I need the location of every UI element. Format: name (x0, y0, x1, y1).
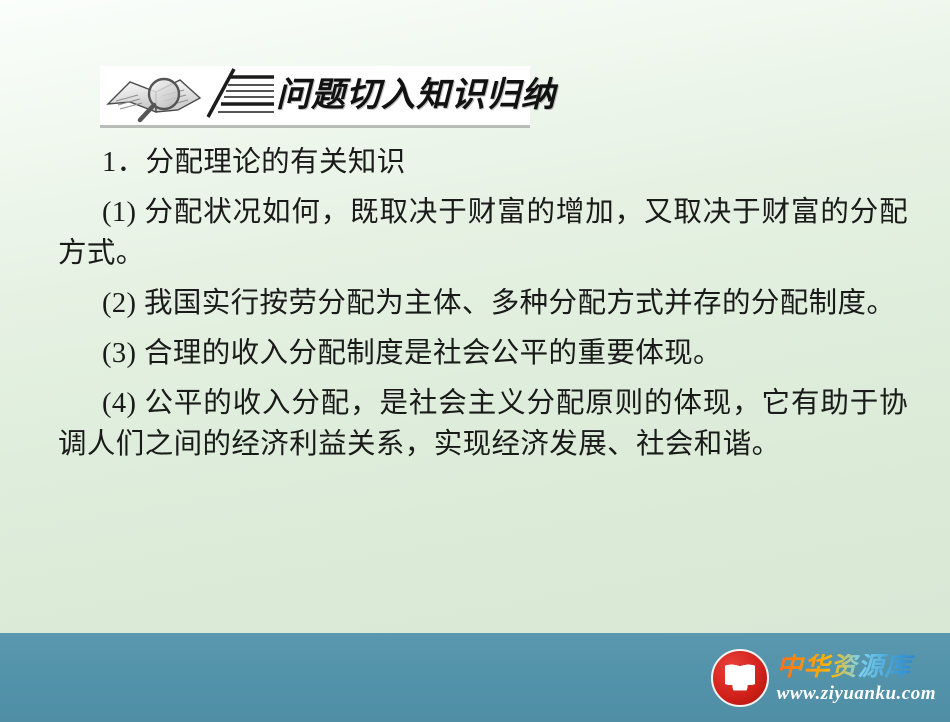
content-point-4: (4) 公平的收入分配，是社会主义分配原则的体现，它有助于协调人们之间的经济利益… (58, 383, 908, 465)
section-title-line: 1．分配理论的有关知识 (58, 142, 908, 183)
content-body: 1．分配理论的有关知识 (1) 分配状况如何，既取决于财富的增加，又取决于财富的… (58, 142, 908, 474)
footer-bar: 中华资源库 www.ziyuanku.com (0, 633, 950, 722)
content-point-2: (2) 我国实行按劳分配为主体、多种分配方式并存的分配制度。 (58, 283, 908, 324)
watermark-url: www.ziyuanku.com (777, 684, 936, 703)
watermark-brand: 中华资源库 (777, 654, 936, 680)
butterfly-logo-icon (711, 649, 769, 707)
content-point-1: (1) 分配状况如何，既取决于财富的增加，又取决于财富的分配方式。 (58, 192, 908, 274)
content-point-3: (3) 合理的收入分配制度是社会公平的重要体现。 (58, 333, 908, 374)
section-heading-banner: 问题切入知识归纳 (100, 66, 530, 128)
section-heading-title: 问题切入知识归纳 (276, 79, 556, 113)
watermark-text: 中华资源库 www.ziyuanku.com (777, 654, 936, 703)
book-magnifier-icon (104, 68, 216, 124)
watermark: 中华资源库 www.ziyuanku.com (711, 647, 936, 709)
slide-canvas: 问题切入知识归纳 1．分配理论的有关知识 (1) 分配状况如何，既取决于财富的增… (0, 0, 950, 722)
